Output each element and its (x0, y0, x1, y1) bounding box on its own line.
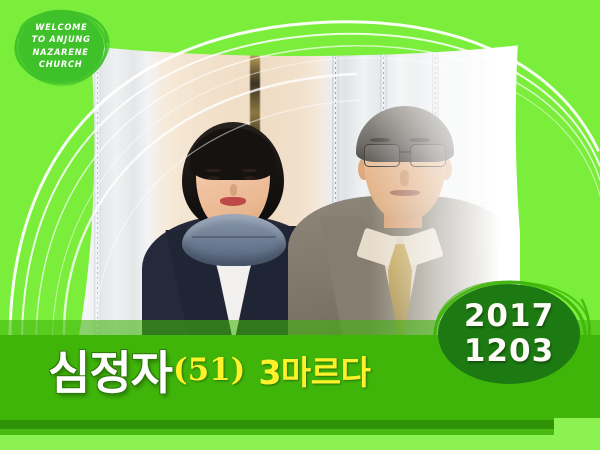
woman-mouth (220, 197, 246, 206)
woman-nose (230, 184, 237, 196)
woman-eyebrow-right (242, 169, 257, 172)
welcome-badge-text: WELCOME TO ANJUNG NAZARENE CHURCH (12, 8, 110, 86)
date-year: 2017 (464, 300, 554, 333)
member-age: (51) (173, 352, 245, 388)
woman-scarf (182, 214, 286, 266)
date-monthday: 1203 (464, 335, 554, 368)
date-badge-text: 2017 1203 (438, 284, 580, 384)
woman-eyebrow-left (206, 169, 221, 172)
welcome-badge: WELCOME TO ANJUNG NAZARENE CHURCH (12, 8, 110, 86)
welcome-line-2: TO ANJUNG (31, 35, 90, 46)
member-name: 심정자 (48, 337, 172, 403)
welcome-line-4: CHURCH (39, 60, 83, 71)
band-right-lime (554, 418, 600, 450)
woman-eye-left (208, 176, 220, 180)
welcome-line-3: NAZARENE (33, 48, 89, 59)
welcome-line-1: WELCOME (35, 23, 87, 34)
woman-eye-right (244, 176, 256, 180)
member-group: 3마르다 (258, 346, 370, 394)
date-badge: 2017 1203 (432, 278, 594, 390)
welcome-card: 심정자 (51) 3마르다 WELCOME TO ANJUNG NAZARENE… (0, 0, 600, 450)
band-lime-stripe (0, 435, 600, 450)
caption: 심정자 (51) 3마르다 (48, 340, 371, 400)
